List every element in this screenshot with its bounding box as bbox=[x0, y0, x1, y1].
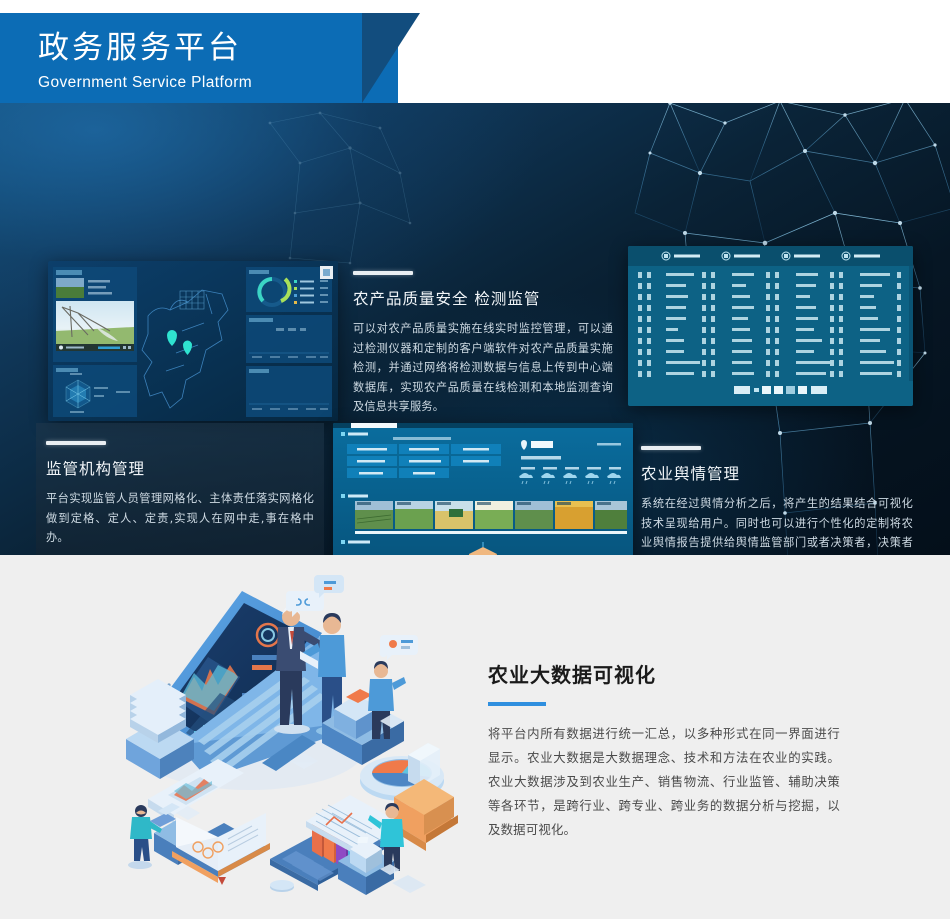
header-text-group: 政务服务平台 Government Service Platform bbox=[38, 28, 252, 94]
screenshot-record-table[interactable] bbox=[628, 246, 913, 406]
big-data-illustration bbox=[90, 573, 466, 903]
feature-body: 平台实现监管人员管理网格化、主体责任落实网格化做到定格、定人、定责,实现人在网中… bbox=[46, 489, 314, 548]
page-root: 政务服务平台 Government Service Platform bbox=[0, 0, 950, 919]
big-data-body: 将平台内所有数据进行统一汇总，以多种形式在同一界面进行显示。农业大数据是大数据理… bbox=[488, 722, 840, 842]
header-triangle-accent bbox=[362, 13, 420, 103]
feature-block-quality-safety: 农产品质量安全 检测监管 可以对农产品质量实施在线实时监控管理，可以通过检测仪器… bbox=[353, 271, 613, 417]
record-table-graphic bbox=[628, 246, 913, 406]
page-subtitle: Government Service Platform bbox=[38, 72, 252, 94]
title-underline bbox=[488, 702, 546, 706]
big-data-title: 农业大数据可视化 bbox=[488, 661, 840, 689]
accent-bar bbox=[46, 441, 106, 445]
site-header: 政务服务平台 Government Service Platform bbox=[0, 13, 950, 103]
big-data-section: 农业大数据可视化 将平台内所有数据进行统一汇总，以多种形式在同一界面进行显示。农… bbox=[0, 555, 950, 919]
accent-bar bbox=[353, 271, 413, 275]
weather-gallery-graphic bbox=[333, 423, 633, 555]
screenshot-monitoring-dashboard[interactable] bbox=[48, 261, 338, 421]
accent-bar bbox=[641, 446, 701, 450]
feature-block-supervision-org: 监管机构管理 平台实现监管人员管理网格化、主体责任落实网格化做到定格、定人、定责… bbox=[46, 441, 314, 548]
feature-block-public-opinion: 农业舆情管理 系统在经过舆情分析之后，将产生的结果结合可视化技术呈现给用户。同时… bbox=[641, 446, 913, 555]
big-data-text-group: 农业大数据可视化 将平台内所有数据进行统一汇总，以多种形式在同一界面进行显示。农… bbox=[488, 661, 840, 842]
monitoring-dashboard-graphic bbox=[48, 261, 338, 421]
feature-body: 可以对农产品质量实施在线实时监控管理，可以通过检测仪器和定制的客户端软件对农产品… bbox=[353, 319, 613, 417]
feature-title: 农业舆情管理 bbox=[641, 463, 913, 485]
feature-title: 监管机构管理 bbox=[46, 458, 314, 480]
page-title: 政务服务平台 bbox=[38, 28, 252, 68]
screenshot-weather-gallery[interactable] bbox=[333, 423, 633, 555]
feature-title: 农产品质量安全 检测监管 bbox=[353, 288, 613, 310]
feature-body: 系统在经过舆情分析之后，将产生的结果结合可视化技术呈现给用户。同时也可以进行个性… bbox=[641, 494, 913, 555]
dark-feature-section: 农产品质量安全 检测监管 可以对农产品质量实施在线实时监控管理，可以通过检测仪器… bbox=[0, 103, 950, 555]
